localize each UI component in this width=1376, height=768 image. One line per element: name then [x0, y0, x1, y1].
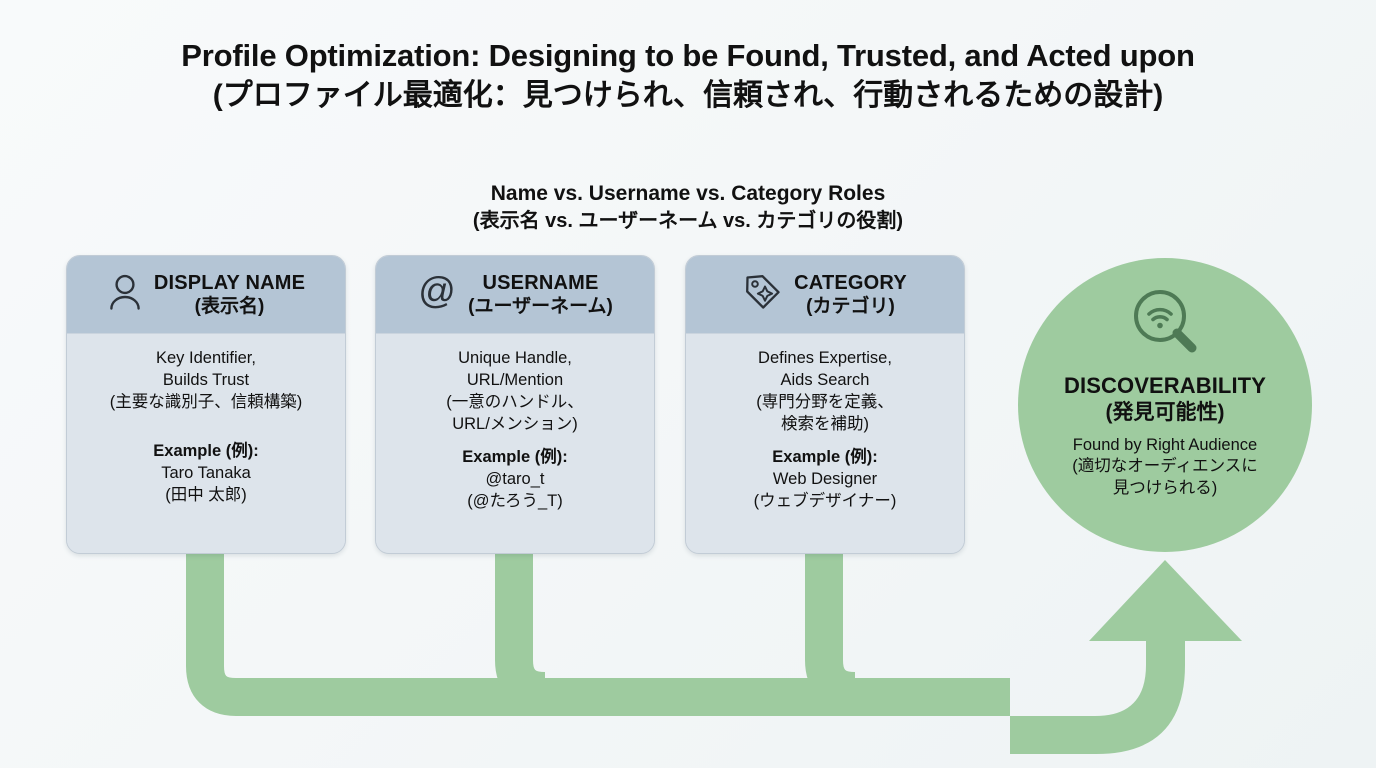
card-header-text: USERNAME (ユーザーネーム) — [468, 271, 613, 319]
example-label: Example (例): — [694, 446, 956, 468]
desc-line: (一意のハンドル、 — [384, 392, 646, 414]
svg-text:@: @ — [418, 272, 456, 311]
example-value: Web Designer — [694, 468, 956, 490]
diagram-canvas: Profile Optimization: Designing to be Fo… — [0, 0, 1376, 768]
card-header: @ USERNAME (ユーザーネーム) — [376, 256, 654, 334]
example-value: @taro_t — [384, 468, 646, 490]
desc-line: (主要な識別子、信頼構築) — [75, 392, 337, 414]
card-title-english: DISPLAY NAME — [154, 271, 305, 295]
card-example: Example (例): Taro Tanaka (田中 太郎) — [75, 440, 337, 507]
card-body: Unique Handle, URL/Mention (一意のハンドル、 URL… — [376, 334, 654, 552]
card-header: DISPLAY NAME (表示名) — [67, 256, 345, 334]
card-title-japanese: (表示名) — [154, 295, 305, 319]
card-header-text: CATEGORY (カテゴリ) — [794, 271, 907, 319]
card-display-name[interactable]: DISPLAY NAME (表示名) Key Identifier, Build… — [66, 255, 346, 554]
arrow-head — [1089, 560, 1242, 641]
desc-line: Unique Handle, — [384, 348, 646, 370]
card-description: Unique Handle, URL/Mention (一意のハンドル、 URL… — [384, 348, 646, 436]
magnifier-wifi-icon — [1128, 284, 1202, 363]
example-value-japanese: (@たろう_T) — [384, 490, 646, 512]
card-title-japanese: (カテゴリ) — [794, 295, 907, 319]
desc-line: Key Identifier, — [75, 348, 337, 370]
card-example: Example (例): Web Designer (ウェブデザイナー) — [694, 446, 956, 513]
outcome-sub-line: Found by Right Audience — [1072, 435, 1258, 456]
outcome-title-english: DISCOVERABILITY — [1064, 373, 1266, 399]
person-icon — [107, 273, 143, 316]
at-sign-icon: @ — [417, 272, 457, 317]
desc-line: (専門分野を定義、 — [694, 392, 956, 414]
outcome-sub-line: 見つけられる) — [1072, 478, 1258, 499]
outcome-subtext: Found by Right Audience (適切なオーディエンスに 見つけ… — [1072, 435, 1258, 499]
tag-star-icon — [743, 272, 783, 317]
desc-line: Aids Search — [694, 370, 956, 392]
example-value: Taro Tanaka — [75, 462, 337, 484]
card-description: Defines Expertise, Aids Search (専門分野を定義、… — [694, 348, 956, 436]
card-title-english: USERNAME — [468, 271, 613, 295]
outcome-sub-line: (適切なオーディエンスに — [1072, 456, 1258, 477]
card-body: Key Identifier, Builds Trust (主要な識別子、信頼構… — [67, 334, 345, 552]
card-category[interactable]: CATEGORY (カテゴリ) Defines Expertise, Aids … — [685, 255, 965, 554]
outcome-discoverability[interactable]: DISCOVERABILITY (発見可能性) Found by Right A… — [1018, 258, 1312, 552]
card-description: Key Identifier, Builds Trust (主要な識別子、信頼構… — [75, 348, 337, 414]
desc-line: URL/Mention — [384, 370, 646, 392]
card-header: CATEGORY (カテゴリ) — [686, 256, 964, 334]
outcome-title-japanese: (発見可能性) — [1106, 399, 1225, 426]
example-value-japanese: (ウェブデザイナー) — [694, 490, 956, 512]
card-title-english: CATEGORY — [794, 271, 907, 295]
card-username[interactable]: @ USERNAME (ユーザーネーム) Unique Handle, URL/… — [375, 255, 655, 554]
example-label: Example (例): — [384, 446, 646, 468]
card-title-japanese: (ユーザーネーム) — [468, 295, 613, 319]
desc-line: Defines Expertise, — [694, 348, 956, 370]
card-body: Defines Expertise, Aids Search (専門分野を定義、… — [686, 334, 964, 552]
card-example: Example (例): @taro_t (@たろう_T) — [384, 446, 646, 513]
example-label: Example (例): — [75, 440, 337, 462]
desc-line: 検索を補助) — [694, 414, 956, 436]
desc-line: URL/メンション) — [384, 414, 646, 436]
example-value-japanese: (田中 太郎) — [75, 484, 337, 506]
desc-line: Builds Trust — [75, 370, 337, 392]
card-header-text: DISPLAY NAME (表示名) — [154, 271, 305, 319]
